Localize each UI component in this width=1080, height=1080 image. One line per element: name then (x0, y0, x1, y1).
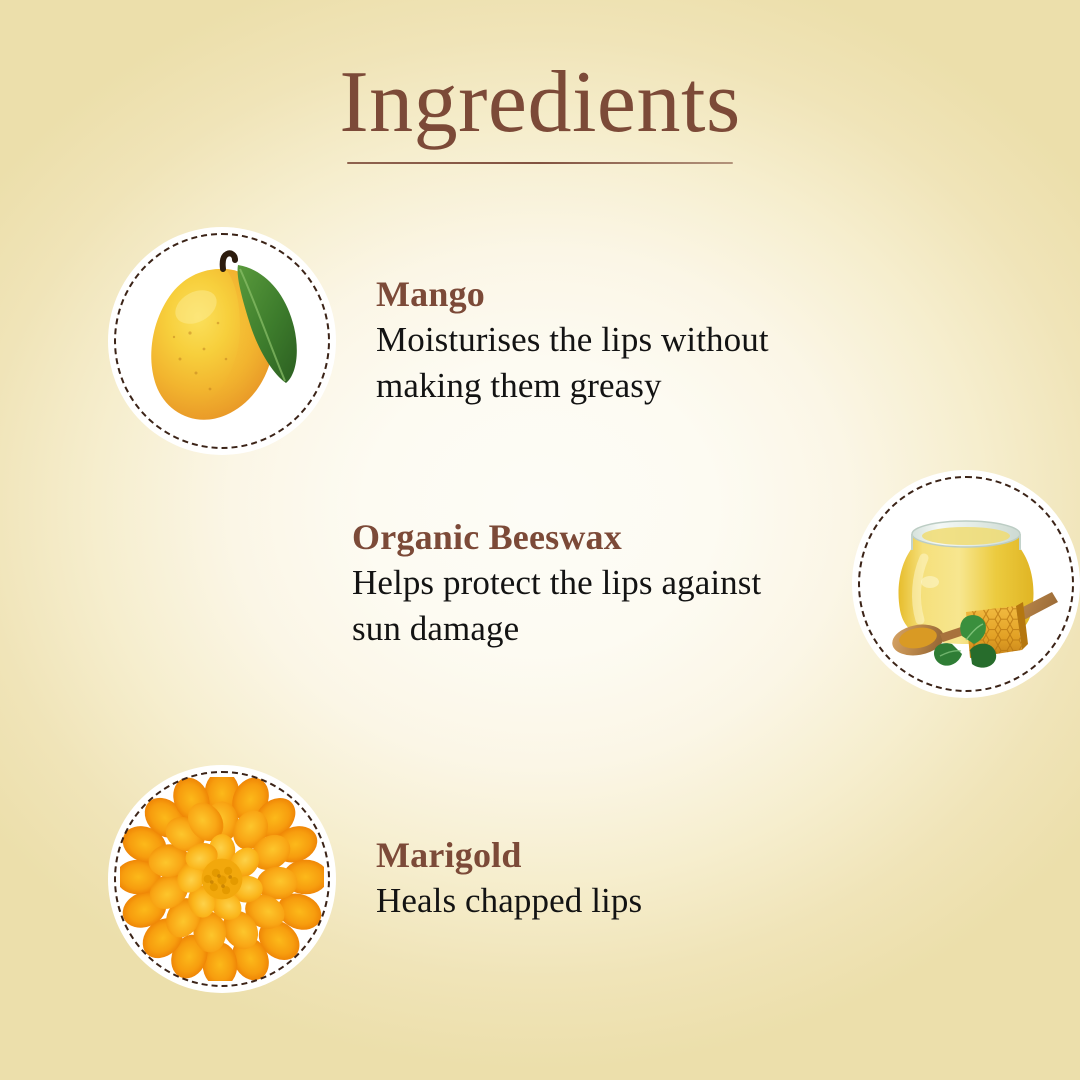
beeswax-text-block: Organic Beeswax Helps protect the lips a… (352, 516, 852, 653)
marigold-text-block: Marigold Heals chapped lips (336, 834, 642, 925)
marigold-flower-icon (120, 777, 324, 981)
ingredient-row-beeswax: Organic Beeswax Helps protect the lips a… (352, 470, 1080, 698)
page-title: Ingredients (0, 58, 1080, 148)
ingredient-name-mango: Mango (376, 273, 856, 315)
ingredient-name-beeswax: Organic Beeswax (352, 516, 816, 558)
ingredient-description-mango: Moisturises the lips without making them… (376, 317, 856, 409)
mango-fruit-icon (122, 241, 322, 441)
marigold-center (202, 859, 243, 900)
beeswax-image-badge (852, 470, 1080, 698)
jar-highlight-dot (921, 576, 939, 588)
ingredients-poster: Ingredients (0, 0, 1080, 1080)
honey-jar-icon (866, 484, 1066, 684)
marigold-image-badge (108, 765, 336, 993)
mango-stem (223, 253, 235, 269)
ingredient-name-marigold: Marigold (376, 834, 642, 876)
ingredient-row-marigold: Marigold Heals chapped lips (108, 765, 642, 993)
ingredient-description-marigold: Heals chapped lips (376, 878, 642, 924)
ingredient-row-mango: Mango Moisturises the lips without makin… (108, 227, 856, 455)
mango-image-badge (108, 227, 336, 455)
mango-text-block: Mango Moisturises the lips without makin… (336, 273, 856, 410)
page-header: Ingredients (0, 58, 1080, 164)
title-divider (347, 162, 733, 164)
jar-honey-surface (922, 527, 1010, 545)
ingredient-description-beeswax: Helps protect the lips against sun damag… (352, 560, 816, 652)
